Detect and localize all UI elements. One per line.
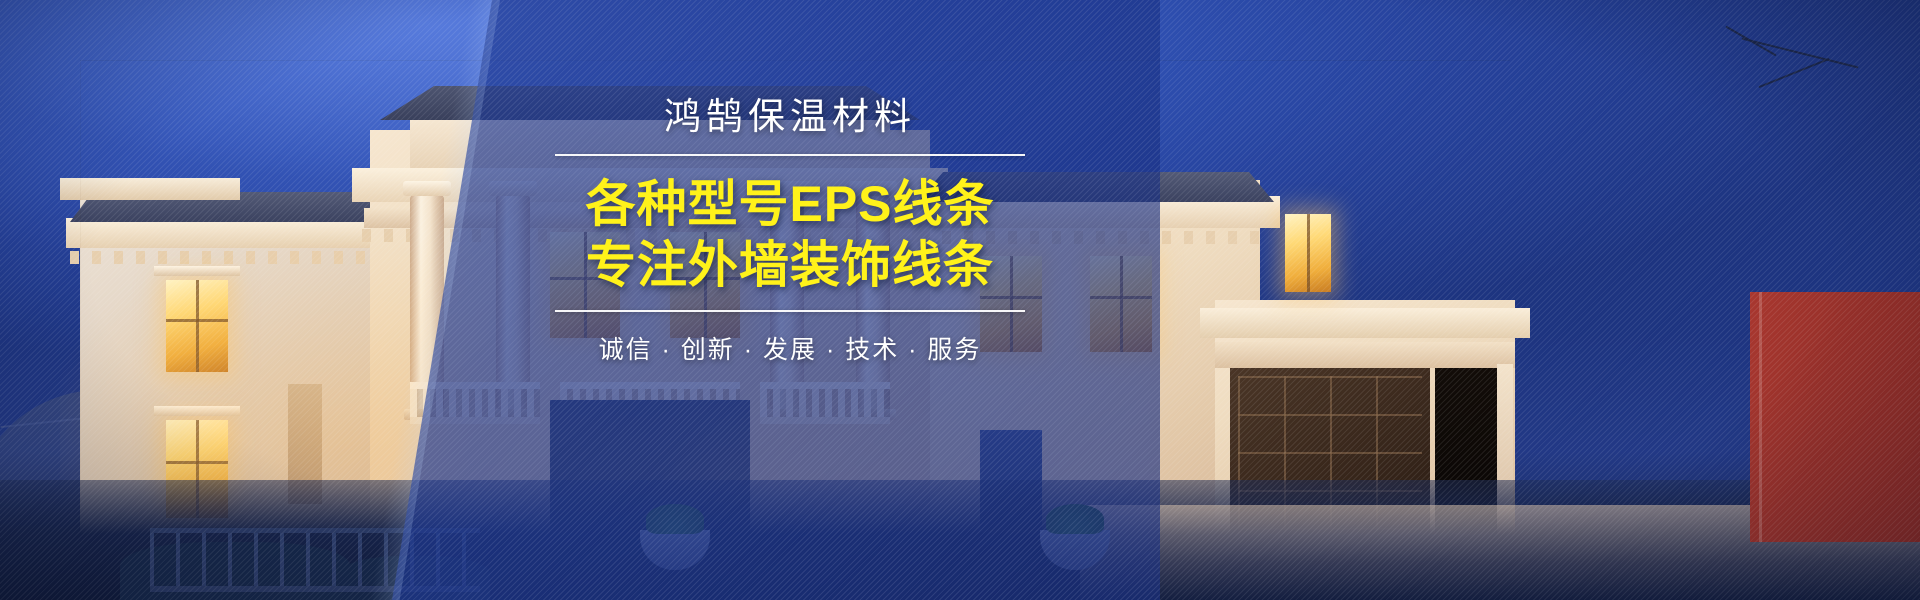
headline-line-1: 各种型号EPS线条 — [555, 175, 1025, 235]
red-fence-panel — [1750, 292, 1920, 542]
brand-name: 鸿鹄保温材料 — [555, 96, 1025, 139]
headline-line-2: 专注外墙装饰线条 — [555, 236, 1025, 296]
divider-top — [555, 154, 1025, 156]
promo-banner: 鸿鹄保温材料 各种型号EPS线条 专注外墙装饰线条 诚信 · 创新 · 发展 ·… — [0, 0, 1920, 600]
tagline: 诚信 · 创新 · 发展 · 技术 · 服务 — [555, 330, 1025, 366]
divider-bottom — [555, 310, 1025, 312]
banner-text-block: 鸿鹄保温材料 各种型号EPS线条 专注外墙装饰线条 诚信 · 创新 · 发展 ·… — [555, 96, 1025, 366]
